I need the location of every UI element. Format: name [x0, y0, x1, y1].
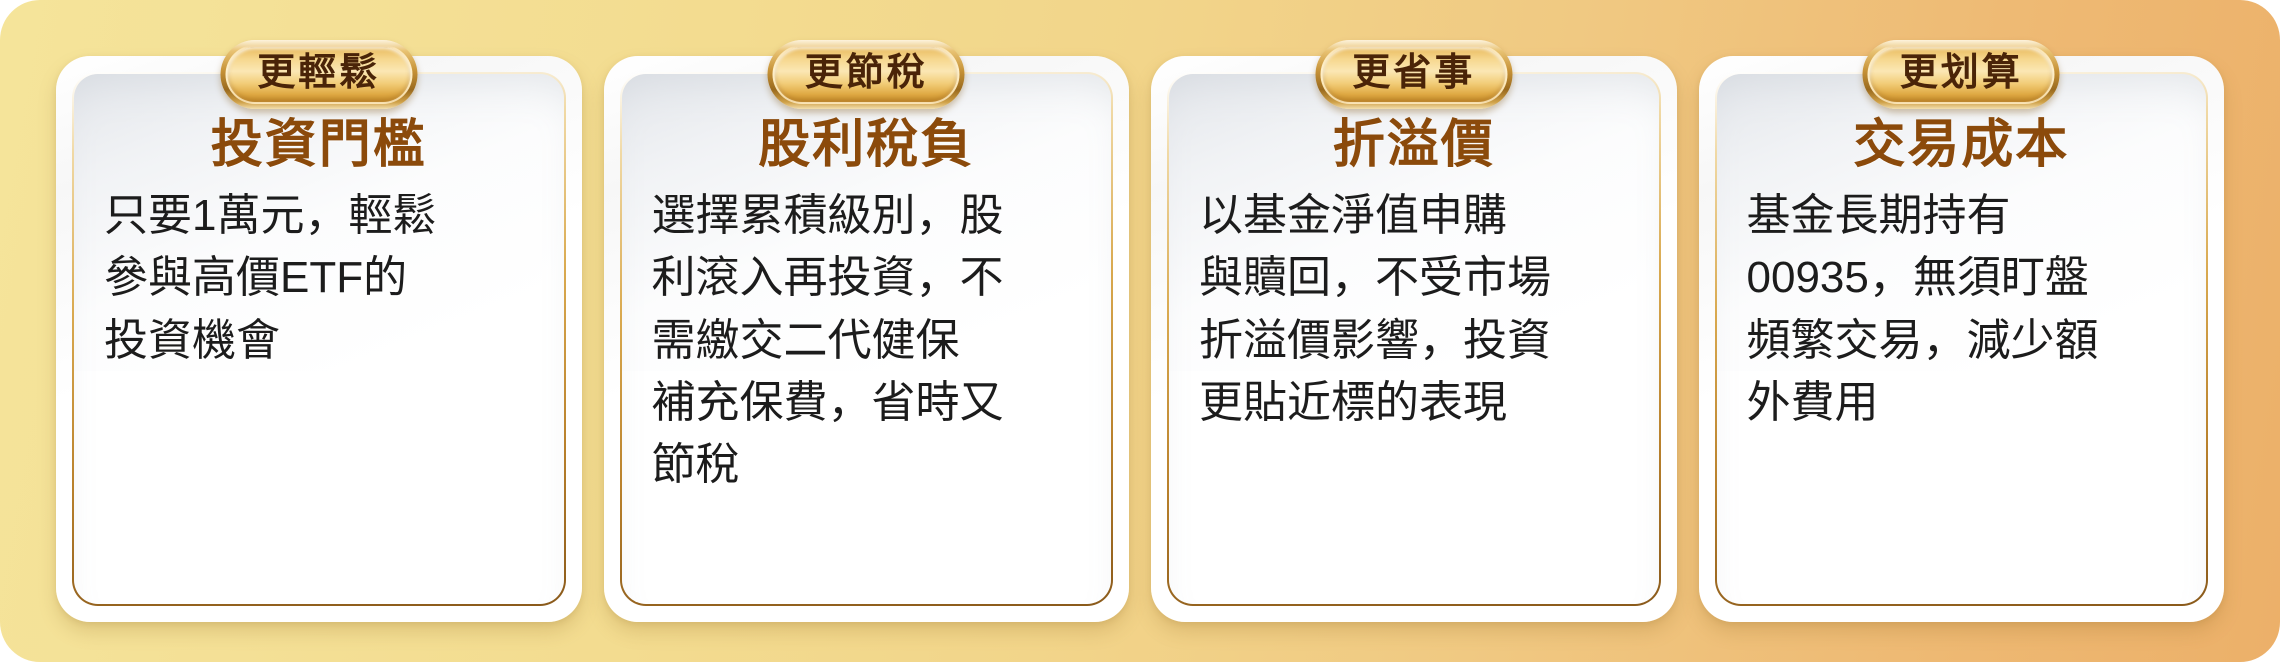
card-body-line: 更貼近標的表現 [1199, 372, 1629, 434]
card-content: 股利稅負 選擇累積級別，股 利滾入再投資，不 需繳交二代健保 補充保費，省時又 … [620, 72, 1114, 606]
card-badge-inner: 更省事 [1320, 45, 1507, 104]
card-body-line: 以基金淨值申購 [1199, 185, 1629, 247]
card-badge: 更輕鬆 [220, 40, 417, 109]
card-badge-label: 更輕鬆 [257, 54, 380, 92]
card-body-line: 選擇累積級別，股 [652, 185, 1082, 247]
card-badge-label: 更划算 [1900, 54, 2023, 92]
card-badge-inner: 更節稅 [773, 45, 960, 104]
card-body: 選擇累積級別，股 利滾入再投資，不 需繳交二代健保 補充保費，省時又 節稅 [646, 185, 1088, 497]
card-content: 投資門檻 只要1萬元，輕鬆 參與高價ETF的 投資機會 [72, 72, 566, 606]
card-title: 股利稅負 [646, 118, 1088, 173]
card-body-line: 節稅 [652, 434, 1082, 496]
card-body-line: 外費用 [1747, 372, 2177, 434]
card-title: 折溢價 [1193, 118, 1635, 173]
feature-card-list: 更輕鬆 投資門檻 只要1萬元，輕鬆 參與高價ETF的 投資機會 更節稅 [0, 0, 2280, 662]
card-body: 只要1萬元，輕鬆 參與高價ETF的 投資機會 [98, 185, 540, 372]
card-badge-inner: 更輕鬆 [225, 45, 412, 104]
card-content: 交易成本 基金長期持有 00935，無須盯盤 頻繁交易，減少額 外費用 [1715, 72, 2209, 606]
card-badge: 更節稅 [768, 40, 965, 109]
card-body-line: 與贖回，不受市場 [1199, 247, 1629, 309]
card-body: 以基金淨值申購 與贖回，不受市場 折溢價影響，投資 更貼近標的表現 [1193, 185, 1635, 435]
feature-banner: 更輕鬆 投資門檻 只要1萬元，輕鬆 參與高價ETF的 投資機會 更節稅 [0, 0, 2280, 662]
card-body-line: 補充保費，省時又 [652, 372, 1082, 434]
card-badge-inner: 更划算 [1868, 45, 2055, 104]
card-body-line: 00935，無須盯盤 [1747, 247, 2177, 309]
card-badge: 更省事 [1315, 40, 1512, 109]
card-body: 基金長期持有 00935，無須盯盤 頻繁交易，減少額 外費用 [1741, 185, 2183, 435]
card-body-line: 投資機會 [104, 310, 534, 372]
card-body-line: 基金長期持有 [1747, 185, 2177, 247]
card-title: 交易成本 [1741, 118, 2183, 173]
feature-card: 更輕鬆 投資門檻 只要1萬元，輕鬆 參與高價ETF的 投資機會 [56, 28, 582, 622]
card-body-line: 折溢價影響，投資 [1199, 310, 1629, 372]
feature-card: 更省事 折溢價 以基金淨值申購 與贖回，不受市場 折溢價影響，投資 更貼近標的表… [1151, 28, 1677, 622]
card-title: 投資門檻 [98, 118, 540, 173]
feature-card: 更節稅 股利稅負 選擇累積級別，股 利滾入再投資，不 需繳交二代健保 補充保費，… [604, 28, 1130, 622]
card-body-line: 只要1萬元，輕鬆 [104, 185, 534, 247]
card-badge-label: 更節稅 [805, 54, 928, 92]
card-body-line: 利滾入再投資，不 [652, 247, 1082, 309]
card-body-line: 參與高價ETF的 [104, 247, 534, 309]
card-badge-label: 更省事 [1352, 54, 1475, 92]
card-badge: 更划算 [1863, 40, 2060, 109]
feature-card: 更划算 交易成本 基金長期持有 00935，無須盯盤 頻繁交易，減少額 外費用 [1699, 28, 2225, 622]
card-body-line: 頻繁交易，減少額 [1747, 310, 2177, 372]
card-content: 折溢價 以基金淨值申購 與贖回，不受市場 折溢價影響，投資 更貼近標的表現 [1167, 72, 1661, 606]
card-body-line: 需繳交二代健保 [652, 310, 1082, 372]
